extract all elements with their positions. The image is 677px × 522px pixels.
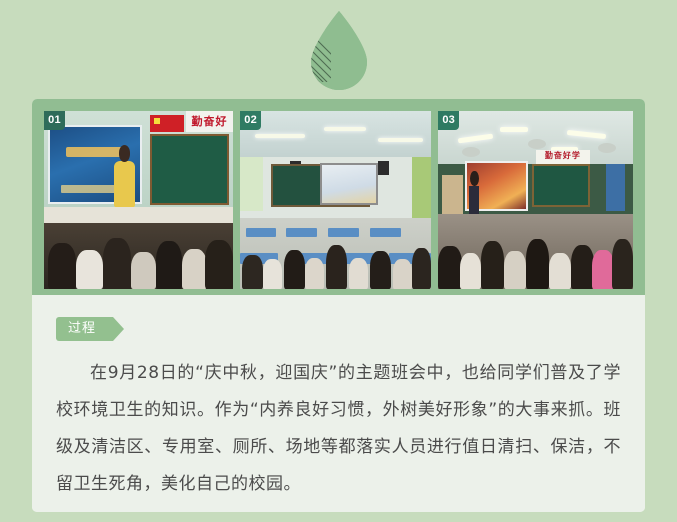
section-tag-process: 过程 [56,317,113,341]
gallery-photo-1[interactable]: 勤奋好 01 [44,111,233,289]
photo-1-artwork: 勤奋好 [44,111,233,289]
photo-3-artwork: 勤奋好学 [438,111,633,289]
photo-2-badge: 02 [240,111,261,130]
droplet-decoration [0,8,677,94]
photo-1-wall-banner-text: 勤奋好 [188,113,231,131]
photo-2-artwork [240,111,431,289]
photo-3-badge: 03 [438,111,459,130]
section-paragraph: 在9月28日的“庆中秋，迎国庆”的主题班会中，也给同学们普及了学校环境卫生的知识… [56,355,621,503]
gallery-photo-3[interactable]: 勤奋好学 03 [438,111,633,289]
section-tag-row: 过程 [56,317,621,341]
water-droplet-icon [297,8,381,94]
photo-gallery: 勤奋好 01 [32,99,645,295]
photo-3-wall-banner-text: 勤奋好学 [536,150,591,164]
photo-1-badge: 01 [44,111,65,130]
card-body: 过程 在9月28日的“庆中秋，迎国庆”的主题班会中，也给同学们普及了学校环境卫生… [32,295,645,512]
content-card: 勤奋好 01 [32,99,645,512]
gallery-photo-2[interactable]: 02 [240,111,431,289]
